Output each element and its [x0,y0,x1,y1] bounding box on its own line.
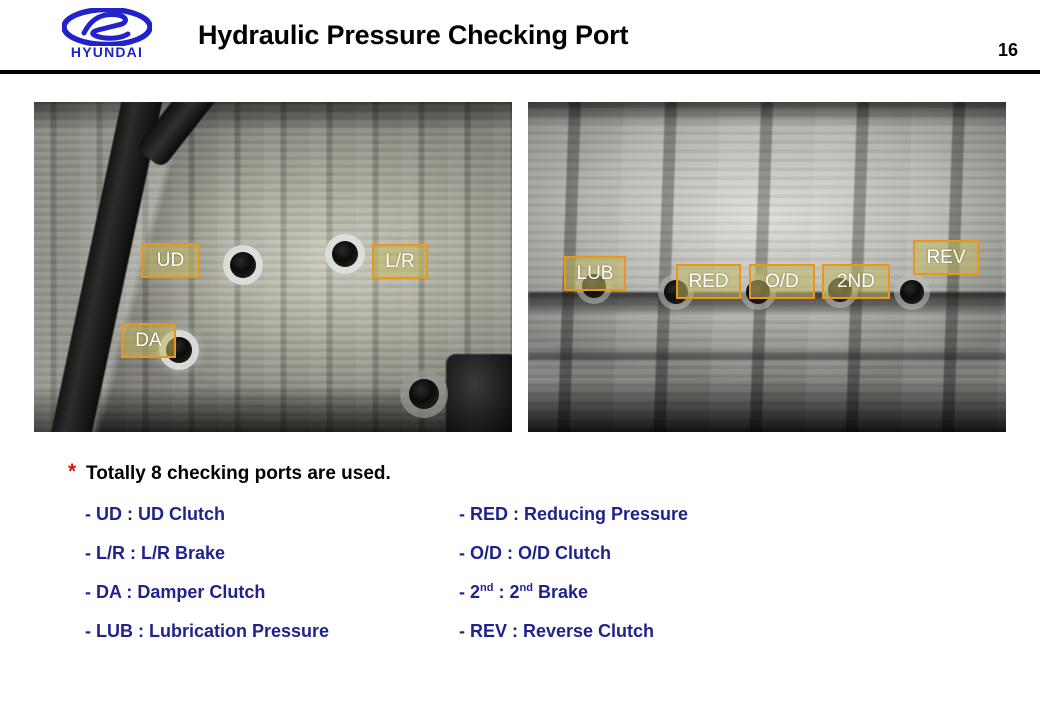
hyundai-ellipse-h-logo [62,8,152,46]
notes-asterisk: * [68,461,76,482]
slide-header: HYUNDAI Hydraulic Pressure Checking Port… [0,0,1040,72]
port-label-ud: UD [141,243,200,278]
hyundai-logo: HYUNDAI [48,8,166,62]
legend-item: - LUB : Lubrication Pressure [85,620,329,659]
port-bolt [332,241,358,267]
legend-column-right: - RED : Reducing Pressure- O/D : O/D Clu… [459,503,688,659]
port-label-lub: LUB [564,256,626,291]
port-label-red: RED [676,264,741,299]
port-label-text: 2ND [837,272,875,291]
port-label-text: LUB [577,264,614,283]
legend-item: - RED : Reducing Pressure [459,503,688,542]
page-title: Hydraulic Pressure Checking Port [198,20,628,51]
port-label-rev: REV [913,240,979,275]
legend-item: - UD : UD Clutch [85,503,329,542]
port-label-text: REV [926,248,965,267]
port-label-text: DA [135,331,161,350]
legend-item: - REV : Reverse Clutch [459,620,688,659]
hyundai-wordmark: HYUNDAI [48,44,166,60]
port-label-text: RED [688,272,728,291]
page-number: 16 [998,40,1018,61]
notes-section: * Totally 8 checking ports are used. - U… [0,455,1040,665]
drain-plug-icon [409,379,439,409]
port-label-text: O/D [765,272,799,291]
legend-item: - 2nd : 2nd Brake [459,581,688,620]
connector-icon [446,354,512,432]
port-label-text: UD [157,251,184,270]
port-label-text: L/R [385,252,415,271]
valve-body-photo-left [34,102,512,432]
legend-item: - DA : Damper Clutch [85,581,329,620]
port-bolt [230,252,256,278]
port-bolt [900,280,924,304]
legend-item: - O/D : O/D Clutch [459,542,688,581]
port-label-da: DA [121,323,176,358]
port-label-l-r: L/R [372,244,428,279]
port-label-o-d: O/D [749,264,815,299]
legend-column-left: - UD : UD Clutch- L/R : L/R Brake- DA : … [85,503,329,659]
port-label-2nd: 2ND [822,264,890,299]
header-divider [0,70,1040,74]
notes-heading: Totally 8 checking ports are used. [86,463,391,485]
housing-rail-secondary [528,352,1006,360]
legend-item: - L/R : L/R Brake [85,542,329,581]
